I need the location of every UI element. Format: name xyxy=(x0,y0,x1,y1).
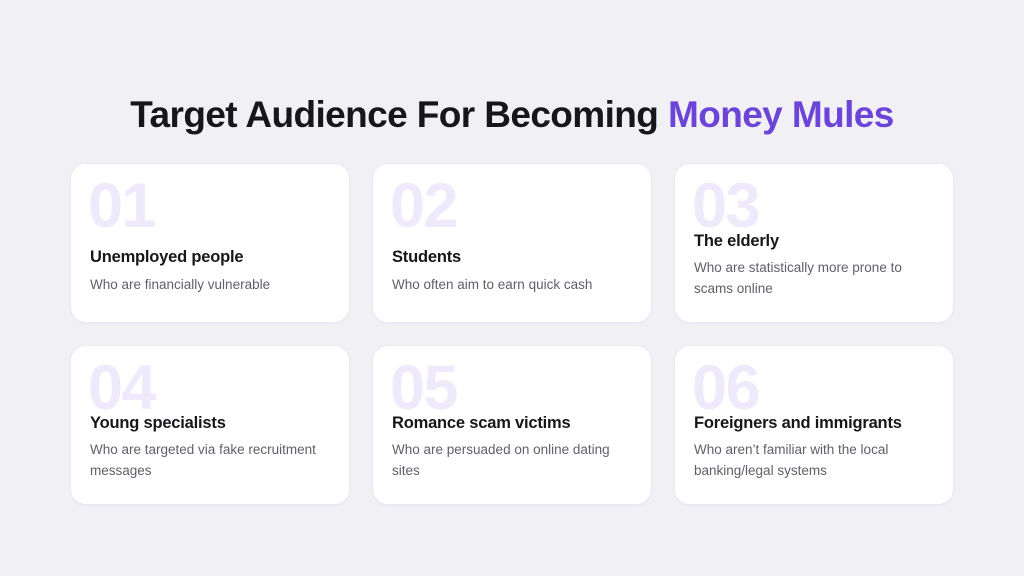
card-title: Foreigners and immigrants xyxy=(694,413,937,434)
page-title: Target Audience For Becoming Money Mules xyxy=(0,93,1024,137)
card-body: Students Who often aim to earn quick cas… xyxy=(392,247,635,296)
card-number: 01 xyxy=(88,170,155,242)
card-description: Who often aim to earn quick cash xyxy=(392,275,635,296)
card-title: Students xyxy=(392,247,635,268)
slide-canvas: Target Audience For Becoming Money Mules… xyxy=(0,0,1024,576)
card-title: Young specialists xyxy=(90,413,333,434)
audience-card-06[interactable]: 06 Foreigners and immigrants Who aren’t … xyxy=(674,345,954,505)
card-body: The elderly Who are statistically more p… xyxy=(694,231,937,300)
card-body: Foreigners and immigrants Who aren’t fam… xyxy=(694,413,937,482)
audience-card-03[interactable]: 03 The elderly Who are statistically mor… xyxy=(674,163,954,323)
card-number: 02 xyxy=(390,170,457,242)
card-description: Who aren’t familiar with the local banki… xyxy=(694,440,937,482)
card-description: Who are persuaded on online dating sites xyxy=(392,440,635,482)
audience-card-02[interactable]: 02 Students Who often aim to earn quick … xyxy=(372,163,652,323)
card-description: Who are targeted via fake recruitment me… xyxy=(90,440,333,482)
page-title-plain: Target Audience For Becoming xyxy=(130,94,668,135)
audience-card-grid: 01 Unemployed people Who are financially… xyxy=(70,163,954,505)
card-body: Romance scam victims Who are persuaded o… xyxy=(392,413,635,482)
page-title-accent: Money Mules xyxy=(668,94,894,135)
audience-card-04[interactable]: 04 Young specialists Who are targeted vi… xyxy=(70,345,350,505)
card-body: Unemployed people Who are financially vu… xyxy=(90,247,333,296)
audience-card-05[interactable]: 05 Romance scam victims Who are persuade… xyxy=(372,345,652,505)
card-title: The elderly xyxy=(694,231,937,252)
card-title: Unemployed people xyxy=(90,247,333,268)
card-title: Romance scam victims xyxy=(392,413,635,434)
card-description: Who are financially vulnerable xyxy=(90,275,333,296)
card-body: Young specialists Who are targeted via f… xyxy=(90,413,333,482)
card-description: Who are statistically more prone to scam… xyxy=(694,258,937,300)
audience-card-01[interactable]: 01 Unemployed people Who are financially… xyxy=(70,163,350,323)
